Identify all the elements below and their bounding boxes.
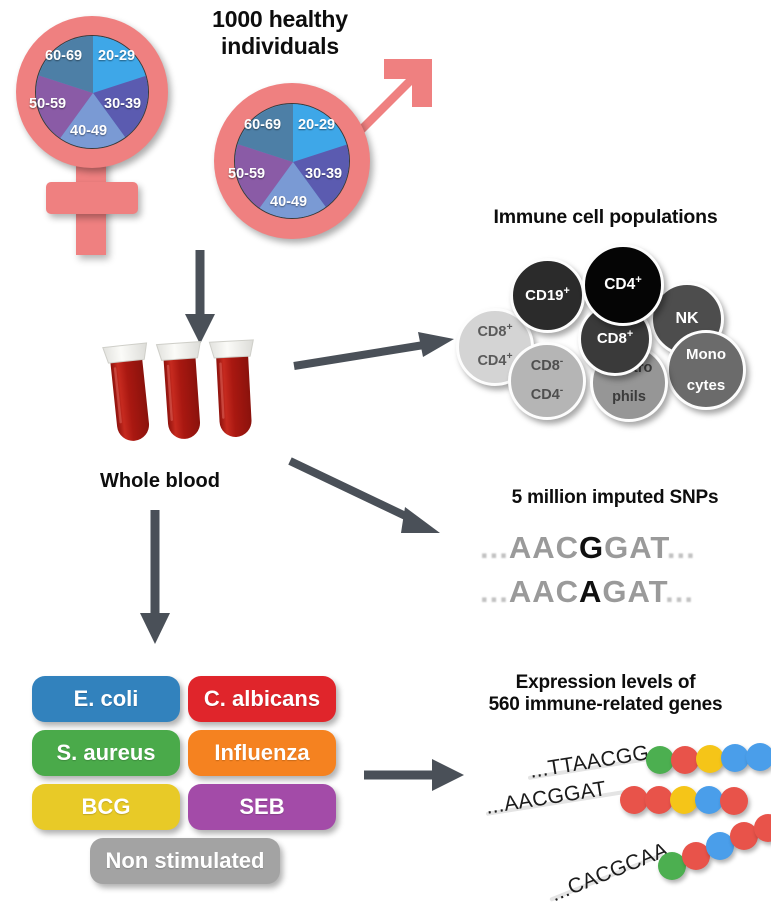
immune-cell-cd19pos: CD19+ [510,258,585,333]
expression-strand-2-bead-3 [670,786,698,814]
blood-tube-3 [209,340,258,438]
cohort-title-line-1: 1000 healthy [160,6,400,33]
immune-cell-monocytes: Mono cytes [666,330,746,410]
female-symbol: 20-29 30-39 40-49 50-59 60-69 [8,10,188,260]
male-age-pie-svg [235,104,350,219]
immune-cell-cd8neg-cd4neg-line1: CD8- [531,359,564,374]
immune-cell-cd8neg-cd4neg: CD8- CD4- [508,342,586,420]
expression-strand-3: ...CACGCAA [548,832,771,912]
blood-tubes-svg [100,335,280,465]
snp-row2-left: AAC [509,574,579,609]
immune-cell-cd19pos-label: CD19+ [525,288,570,303]
snp-row1-prefix: ... [480,530,509,565]
expression-title-line-1: Expression levels of [440,672,771,694]
immune-cell-monocytes-line1: Mono [686,347,726,362]
blood-tube-1 [103,343,157,443]
stimulation-box-e-coli[interactable]: E. coli [32,676,180,722]
immune-cell-neutrophils-line2: phils [606,390,653,405]
immune-cell-cluster: CD8+ CD4+ CD19+ CD4+ NK CD8+ Mono cytes [450,238,771,420]
expression-strand-1-bead-2 [671,746,699,774]
snp-row2-prefix: ... [480,574,509,609]
snp-row1-variant: G [579,530,604,565]
snp-row2-right: GAT [602,574,665,609]
immune-title: Immune cell populations [440,206,771,229]
expression-strand-1-bead-5 [746,743,771,771]
female-symbol-crossbar [46,182,138,214]
immune-cell-cd8pos-cd4pos-line2: CD4+ [477,354,512,369]
expression-strand-2-bead-5 [720,787,748,815]
arrow-blood-to-stimulation [130,510,180,650]
immune-cell-cd8pos-cd4pos-line1: CD8+ [477,325,512,340]
stimulation-box-non-stimulated[interactable]: Non stimulated [90,838,280,884]
immune-cell-monocytes-line2: cytes [686,378,726,393]
snp-row2-variant: A [579,574,602,609]
expression-title: Expression levels of 560 immune-related … [440,672,771,717]
expression-strand-2-bead-2 [645,786,673,814]
blood-tube-2 [156,342,207,441]
female-age-pie [35,35,149,149]
snp-sequence-row-1: ...AACGGAT... [480,530,696,566]
stimulation-box-seb[interactable]: SEB [188,784,336,830]
expression-strand-2-bead-1 [620,786,648,814]
stimulation-box-influenza[interactable]: Influenza [188,730,336,776]
expression-strand-1-bead-3 [696,745,724,773]
immune-cell-nk-label: NK [675,311,698,327]
stimulation-box-c-albicans[interactable]: C. albicans [188,676,336,722]
immune-cell-cd8neg-cd4neg-line2: CD4- [531,388,564,403]
immune-cell-cd8pos-label: CD8+ [597,331,633,346]
snp-sequences: ...AACGGAT... ...AACAGAT... [480,530,760,620]
stimulation-panel: E. coli C. albicans S. aureus Influenza … [32,676,342,898]
expression-strand-1-sequence: ...TTAACGG [528,741,651,784]
expression-strand-2-bead-4 [695,786,723,814]
snp-row2-suffix: ... [665,574,694,609]
immune-cell-cd4pos: CD4+ [582,244,664,326]
male-symbol: 20-29 30-39 40-49 50-59 60-69 [208,55,428,255]
snp-title: 5 million imputed SNPs [455,487,771,509]
expression-strand-1-bead-4 [721,744,749,772]
snp-sequence-row-2: ...AACAGAT... [480,574,694,610]
immune-cell-cd4pos-label: CD4+ [604,277,642,293]
expression-strand-1-bead-1 [646,746,674,774]
male-age-pie [234,103,350,219]
snp-row1-left: AAC [509,530,579,565]
expression-title-line-2: 560 immune-related genes [440,694,771,716]
snp-row1-suffix: ... [667,530,696,565]
expression-strand-2-sequence: ...AACGGAT [484,777,608,820]
stimulation-box-s-aureus[interactable]: S. aureus [32,730,180,776]
figure-canvas: 1000 healthy individuals 20-29 30-39 40-… [0,0,771,922]
female-age-pie-svg [36,36,149,149]
arrow-blood-to-snps [288,455,458,550]
whole-blood-label: Whole blood [40,470,280,493]
whole-blood-tubes [100,335,280,465]
expression-strands: ...TTAACGG ...AACGGAT ...CACGCAA [448,740,771,920]
arrow-blood-to-immune [290,330,460,380]
snp-row1-right: GAT [604,530,667,565]
expression-strand-3-sequence: ...CACGCAA [548,838,672,907]
stimulation-box-bcg[interactable]: BCG [32,784,180,830]
